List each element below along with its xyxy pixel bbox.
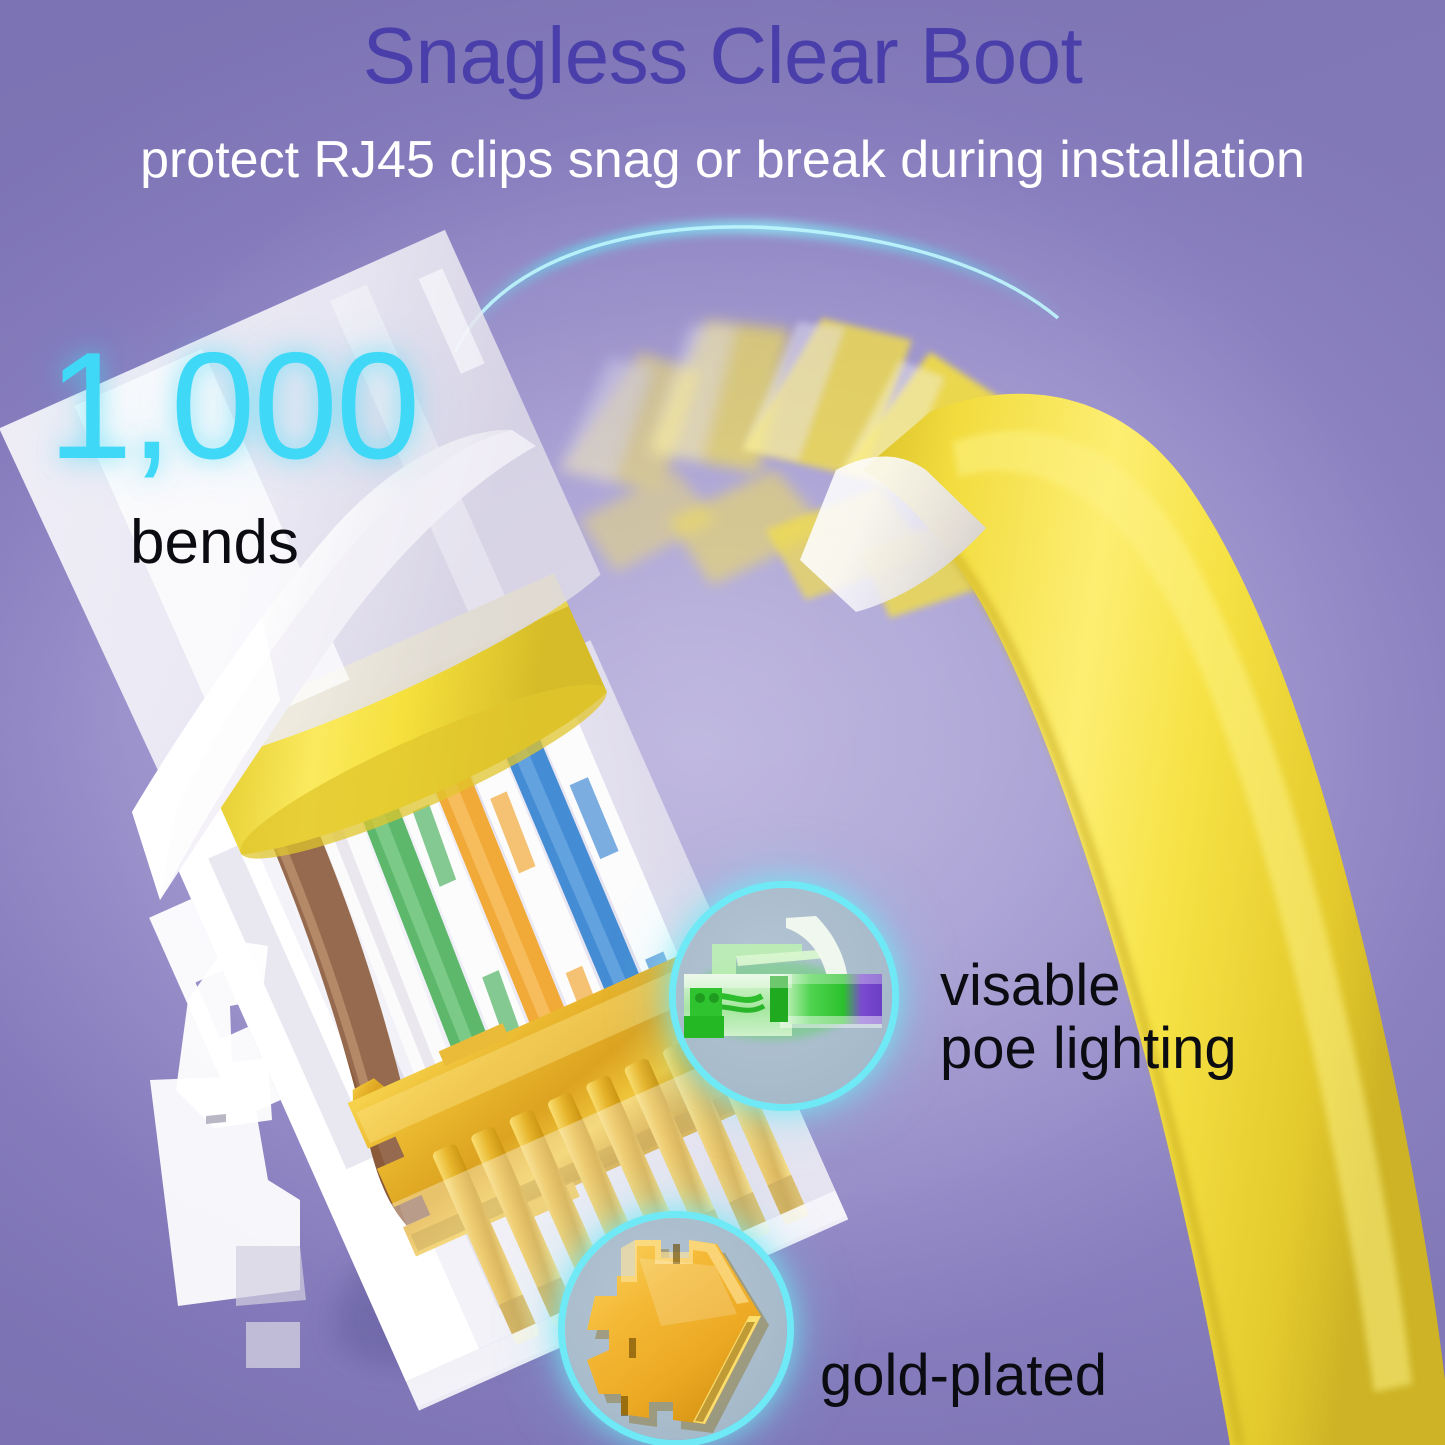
poe-lighting-label: visable poe lighting — [940, 955, 1237, 1080]
product-infographic: Snagless Clear Boot protect RJ45 clips s… — [0, 0, 1445, 1445]
glowing-rj45-connector-icon — [676, 888, 892, 1104]
poe-lighting-badge — [676, 888, 892, 1104]
page-subtitle: protect RJ45 clips snag or break during … — [0, 133, 1445, 188]
bend-count-value: 1,000 — [48, 330, 418, 482]
bend-count-unit: bends — [130, 512, 299, 574]
gold-contact-plate-icon — [565, 1218, 787, 1440]
gold-plated-badge — [565, 1218, 787, 1440]
page-title: Snagless Clear Boot — [0, 14, 1445, 97]
gold-plated-label: gold-plated — [820, 1345, 1107, 1408]
